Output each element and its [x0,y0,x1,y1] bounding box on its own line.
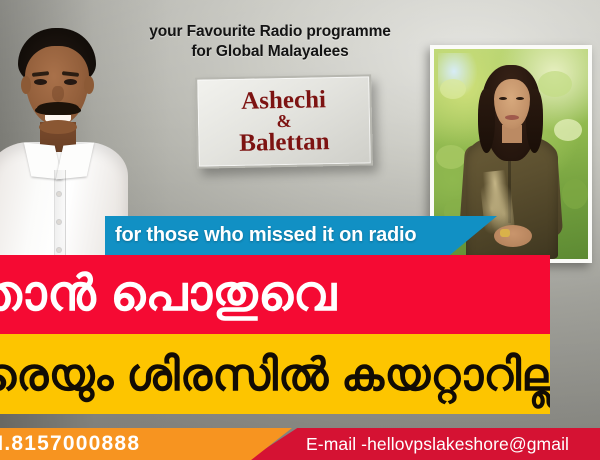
video-thumbnail: your Favourite Radio programme for Globa… [0,0,600,460]
blue-caption-banner: for those who missed it on radio [105,216,497,255]
foliage-leaf [436,145,466,169]
yellow-headline-text: രെയും ശിരസിൽ കയറ്റാറില്ല [0,352,550,397]
shirt-button [57,220,61,224]
male-host-ear-right [84,76,94,94]
tagline-line-2: for Global Malayalees [120,42,420,62]
foliage-leaf [440,79,466,99]
shirt-button [57,192,61,196]
foliage-leaf [562,179,588,209]
female-host-lips [505,115,519,120]
foliage-leaf [554,119,582,141]
contact-bar: E-mail -hellovpslakeshore@gmail H.815700… [0,428,600,460]
show-title-plaque: Ashechi & Balettan [195,74,373,168]
red-headline-band: ഞാൻ പൊതുവെ [0,255,550,334]
female-host-eye-right [516,97,524,100]
yellow-headline-band: രെയും ശിരസിൽ കയറ്റാറില്ല [0,334,550,414]
blue-caption-text: for those who missed it on radio [105,224,416,247]
foliage-leaf [538,71,572,97]
male-host-nose [52,86,64,102]
shirt-button [57,248,61,252]
plaque-title-line-1: Ashechi [241,87,326,114]
contact-phone-text: H.8157000888 [0,432,140,456]
programme-tagline: your Favourite Radio programme for Globa… [120,22,420,62]
male-host-photo [0,24,122,272]
contact-email-text: E-mail -hellovpslakeshore@gmail [306,434,569,455]
female-host-wristwatch [500,229,510,237]
tagline-line-1: your Favourite Radio programme [120,22,420,42]
male-host-eye-left [34,79,47,85]
male-host-eye-right [64,79,77,85]
red-headline-text: ഞാൻ പൊതുവെ [0,270,337,319]
contact-email-section: E-mail -hellovpslakeshore@gmail [248,428,600,460]
male-host-ear-left [21,76,31,94]
plaque-title-line-2: Balettan [239,129,330,156]
male-host-chin [39,120,77,134]
female-host-hair-strand-left [478,89,495,153]
female-host-eye-left [499,97,507,100]
female-host-hands [494,225,532,247]
male-host-moustache [37,102,79,114]
contact-phone-section: H.8157000888 [0,428,292,460]
